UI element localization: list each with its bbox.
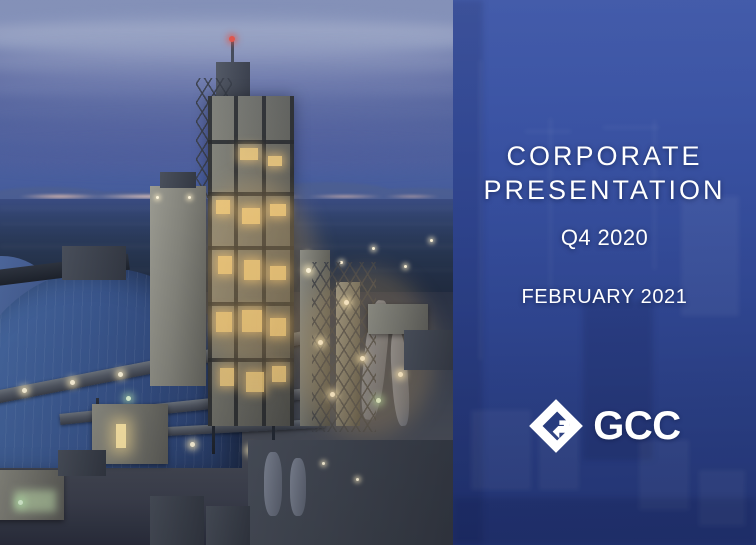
page-title-line-1: CORPORATE [453,143,756,170]
scaffold-lattice [312,262,376,432]
page-title-line-2: PRESENTATION [453,177,756,204]
gcc-wordmark: GCC [593,406,680,446]
aviation-warning-light [229,36,235,42]
plant-building [62,246,126,280]
quarter-subtitle: Q4 2020 [453,227,756,249]
title-panel: CORPORATE PRESENTATION Q4 2020 FEBRUARY … [453,0,756,545]
duct-pipe [264,452,282,516]
gcc-logo: GCC [453,398,756,454]
plant-building [58,450,106,476]
silo [150,186,206,386]
silo-cap [160,172,196,188]
foreground-equipment [150,496,204,545]
title-slide: CORPORATE PRESENTATION Q4 2020 FEBRUARY … [0,0,756,545]
foreground-equipment [206,506,250,545]
plant-building [404,330,456,370]
preheater-tower [208,96,294,426]
gcc-diamond-icon [528,398,584,454]
cement-plant-twilight-photo [0,0,456,545]
lit-doorway [116,424,126,448]
duct-pipe [290,458,306,516]
presentation-date: FEBRUARY 2021 [453,287,756,307]
